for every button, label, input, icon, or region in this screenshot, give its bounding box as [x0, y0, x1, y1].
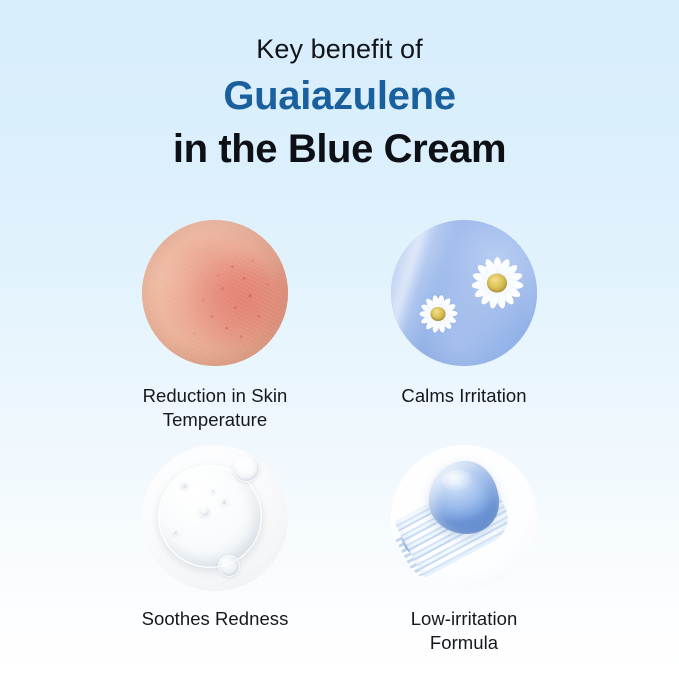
- benefit-caption-line-1: Low-irritation: [314, 607, 614, 631]
- headline-line-1: Key benefit of: [0, 36, 679, 63]
- benefit-thumb-wrap: [142, 220, 288, 366]
- gel-bubble: [181, 482, 188, 489]
- chamomile-flower-center: [487, 274, 507, 293]
- benefit-caption-line-1: Calms Irritation: [314, 384, 614, 408]
- gel-bubble: [233, 455, 260, 482]
- cream-blob-main: [429, 461, 499, 534]
- skin-shading-layer: [142, 220, 288, 366]
- benefit-thumb-wrap: [391, 220, 537, 366]
- benefit-grid: Reduction in Skin Temperature: [0, 220, 679, 670]
- chamomile-flower-center: [431, 307, 446, 321]
- page-title: Key benefit of Guaiazulene in the Blue C…: [0, 36, 679, 169]
- clear-gel-droplet-with-bubbles-image: [142, 445, 288, 591]
- product-benefit-poster: Key benefit of Guaiazulene in the Blue C…: [0, 0, 679, 679]
- gel-bubble: [173, 530, 178, 535]
- gel-bubble: [211, 489, 215, 493]
- chamomile-flowers-on-blue-image: [391, 220, 537, 366]
- benefit-thumb-wrap: [142, 445, 288, 591]
- benefit-caption-line-2: Formula: [314, 631, 614, 655]
- blue-cream-swatch-smear-image: [391, 445, 537, 591]
- benefit-item-low-irritation-formula: Low-irritation Formula: [314, 445, 614, 654]
- benefit-thumb-wrap: [391, 445, 537, 591]
- irritated-red-skin-closeup-image: [142, 220, 288, 366]
- headline-line-3: in the Blue Cream: [0, 129, 679, 169]
- headline-ingredient-name: Guaiazulene: [0, 76, 679, 116]
- benefit-caption: Low-irritation Formula: [314, 607, 614, 654]
- chamomile-flower-small: [411, 290, 465, 338]
- benefit-item-calms-irritation: Calms Irritation: [314, 220, 614, 408]
- chamomile-flower-large: [461, 252, 533, 314]
- benefit-caption: Calms Irritation: [314, 384, 614, 408]
- gel-bubble: [221, 499, 227, 505]
- gel-bubble: [218, 555, 240, 577]
- benefit-caption-line-2: Temperature: [65, 408, 365, 432]
